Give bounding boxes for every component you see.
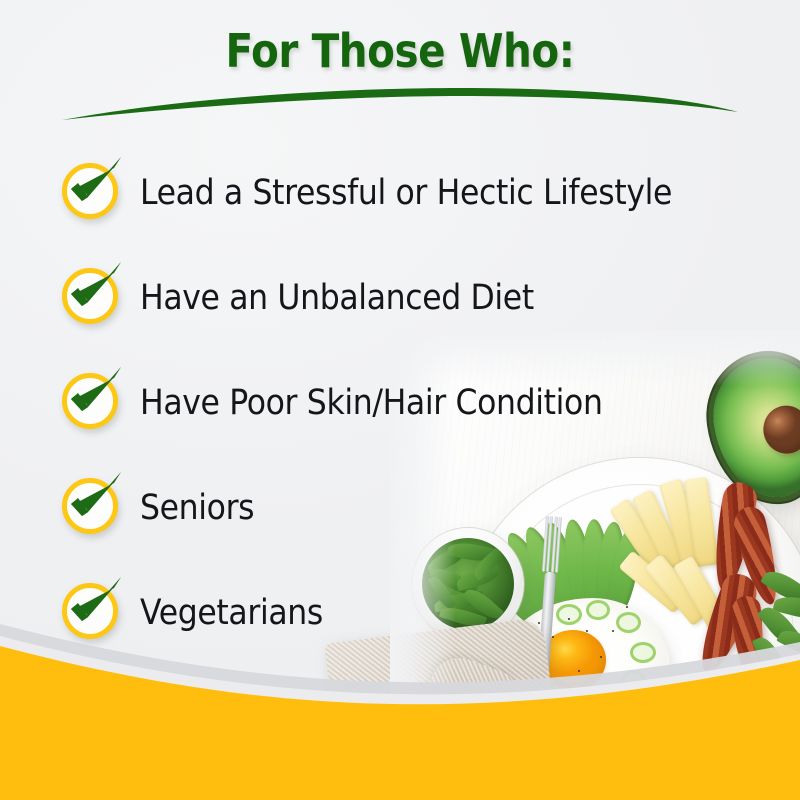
check-circle-icon (58, 369, 126, 437)
list-item[interactable]: Have an Unbalanced Diet (58, 245, 758, 350)
list-item-label: Seniors (140, 488, 254, 528)
poster-canvas: For Those Who: Lead a Stressful or Hecti… (0, 0, 800, 800)
avocado-pit-icon (760, 403, 800, 457)
checkmark-icon (58, 363, 126, 431)
check-circle-icon (58, 474, 126, 542)
check-circle-icon (58, 264, 126, 332)
page-title: For Those Who: (48, 24, 752, 78)
list-item[interactable]: Seniors (58, 455, 758, 560)
list-item[interactable]: Have Poor Skin/Hair Condition (58, 350, 758, 455)
checkmark-icon (58, 258, 126, 326)
check-circle-icon (58, 159, 126, 227)
list-item-label: Have Poor Skin/Hair Condition (140, 383, 603, 423)
checkmark-icon (58, 153, 126, 221)
bottom-yellow-wave (0, 580, 800, 800)
title-underline-swoosh (60, 84, 740, 124)
list-item-label: Lead a Stressful or Hectic Lifestyle (140, 173, 672, 213)
list-item[interactable]: Lead a Stressful or Hectic Lifestyle (58, 140, 758, 245)
list-item-label: Have an Unbalanced Diet (140, 278, 534, 318)
checkmark-icon (58, 468, 126, 536)
